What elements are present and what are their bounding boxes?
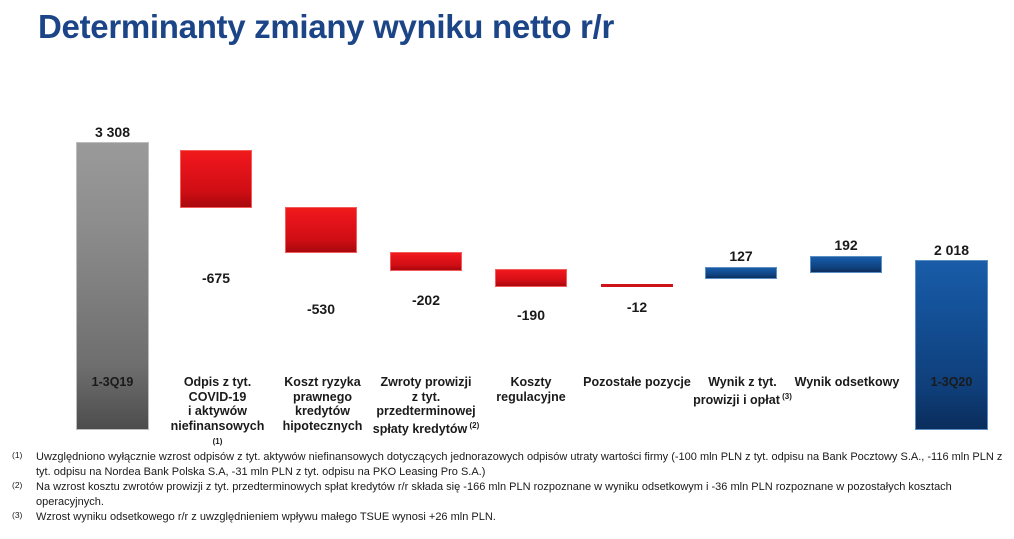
bar-zwroty-prowizji: [390, 252, 462, 271]
category-label-line: kredytów: [295, 404, 350, 418]
category-label-line: Wynik odsetkowy: [795, 375, 900, 389]
value-label-zwroty-prowizji: -202: [376, 292, 476, 308]
value-label-start: 3 308: [62, 124, 163, 140]
category-label-pozostale-pozycje: Pozostałe pozycje: [582, 375, 692, 390]
category-label-zwroty-prowizji: Zwroty prowizjiz tyt.przedterminowejspła…: [371, 375, 481, 436]
category-label-line: Koszty regulacyjne: [496, 375, 565, 404]
bar-koszt-ryzyka-prawnego: [285, 207, 357, 253]
category-label-wynik-prowizji: Wynik z tyt.prowizji i opłat (3): [690, 375, 795, 407]
value-label-wynik-odsetkowy: 192: [796, 237, 896, 253]
category-label-line: Zwroty prowizji: [381, 375, 472, 389]
page-title: Determinanty zmiany wyniku netto r/r: [38, 8, 614, 46]
value-label-end: 2 018: [901, 242, 1002, 258]
bar-odpis-covid: [180, 150, 252, 208]
category-label-line: 1-3Q19: [92, 375, 134, 389]
category-label-line: spłaty kredytów: [373, 422, 467, 436]
category-label-line: prawnego: [293, 390, 352, 404]
category-label-line: Odpis z tyt.: [184, 375, 251, 389]
footnote-2: (2)Na wzrost kosztu zwrotów prowizji z t…: [0, 480, 1014, 509]
value-label-koszty-regulacyjne: -190: [481, 307, 581, 323]
footnote-marker: (1): [213, 437, 223, 446]
category-axis-labels: 1-3Q19Odpis z tyt.COVID-19i aktywówniefi…: [0, 375, 1014, 443]
category-label-line: przedterminowej: [376, 404, 475, 418]
footnote-mark: (3): [12, 508, 22, 523]
footnote-text: Uwzględniono wyłącznie wzrost odpisów z …: [36, 450, 1014, 479]
footnote-3: (3)Wzrost wyniku odsetkowego r/r z uwzgl…: [0, 510, 1014, 525]
category-label-end: 1-3Q20: [899, 375, 1004, 390]
bar-pozostale-pozycje: [601, 284, 673, 287]
category-label-line: prowizji i opłat: [693, 393, 780, 407]
value-label-odpis-covid: -675: [166, 270, 266, 286]
category-label-line: Koszt ryzyka: [284, 375, 360, 389]
category-label-line: hipotecznych: [283, 419, 363, 433]
category-label-line: i aktywów: [188, 404, 247, 418]
footnote-text: Na wzrost kosztu zwrotów prowizji z tyt.…: [36, 480, 1014, 509]
bar-wynik-prowizji: [705, 267, 777, 279]
category-label-koszty-regulacyjne: Koszty regulacyjne: [476, 375, 586, 404]
footnote-text: Wzrost wyniku odsetkowego r/r z uwzględn…: [36, 510, 1014, 525]
footnote-mark: (2): [12, 478, 22, 493]
category-label-koszt-ryzyka-prawnego: Koszt ryzykaprawnegokredytówhipotecznych: [270, 375, 375, 433]
footnote-1: (1)Uwzględniono wyłącznie wzrost odpisów…: [0, 450, 1014, 479]
value-label-pozostale-pozycje: -12: [587, 299, 687, 315]
category-label-start: 1-3Q19: [60, 375, 165, 390]
category-label-line: z tyt.: [412, 390, 440, 404]
category-label-line: Pozostałe pozycje: [583, 375, 691, 389]
category-label-line: 1-3Q20: [931, 375, 973, 389]
category-label-line: Wynik z tyt.: [708, 375, 777, 389]
footnote-marker: (3): [780, 392, 792, 401]
footnotes-block: (1)Uwzględniono wyłącznie wzrost odpisów…: [0, 450, 1014, 526]
bar-wynik-odsetkowy: [810, 256, 882, 273]
category-label-line: niefinansowych: [171, 419, 265, 433]
footnote-marker: (2): [467, 421, 479, 430]
waterfall-chart-plot-area: 3 308-675-530-202-190-121271922 018: [0, 60, 1014, 375]
footnote-mark: (1): [12, 448, 22, 463]
category-label-odpis-covid: Odpis z tyt.COVID-19i aktywówniefinansow…: [165, 375, 270, 453]
value-label-wynik-prowizji: 127: [691, 248, 791, 264]
category-label-line: COVID-19: [189, 390, 247, 404]
category-label-wynik-odsetkowy: Wynik odsetkowy: [792, 375, 902, 390]
bar-koszty-regulacyjne: [495, 269, 567, 287]
value-label-koszt-ryzyka-prawnego: -530: [271, 301, 371, 317]
